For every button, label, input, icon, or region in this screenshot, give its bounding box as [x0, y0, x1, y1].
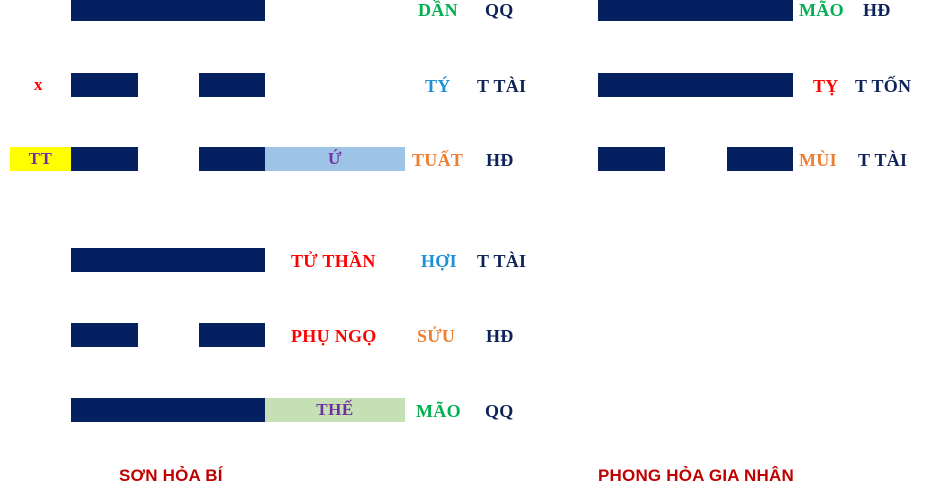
right-row-3-line-left — [598, 147, 665, 171]
left-row-2-line-right — [199, 73, 265, 97]
right-row-3-branch: MÙI — [799, 148, 837, 172]
left-row-3-relation: HĐ — [486, 148, 514, 172]
hexagram-canvas: DẦN QQ x TÝ T TÀI TT Ứ TUẤT HĐ TỬ THẦN H… — [0, 0, 928, 491]
left-row-4-relation: T TÀI — [477, 249, 526, 273]
left-row-6-relation: QQ — [485, 399, 514, 423]
left-row-3-branch: TUẤT — [412, 148, 463, 172]
left-row-2-marker: x — [34, 73, 43, 97]
right-row-3-line-right — [727, 147, 793, 171]
left-row-1-branch: DẦN — [418, 0, 458, 22]
left-row-2-branch: TÝ — [425, 74, 451, 98]
left-row-3-marker-label: TT — [10, 147, 71, 171]
left-row-6-branch: MÃO — [416, 399, 461, 423]
left-hexagram-title: SƠN HỎA BÍ — [119, 466, 223, 486]
right-row-1-line-solid — [598, 0, 793, 21]
left-row-5-line-left — [71, 323, 138, 347]
right-row-1-relation: HĐ — [863, 0, 891, 22]
left-row-5-spirit: PHỤ NGỌ — [291, 324, 377, 348]
right-row-2-relation: T TỐN — [855, 74, 911, 98]
right-hexagram-title: PHONG HỎA GIA NHÂN — [598, 466, 794, 486]
left-row-4-spirit: TỬ THẦN — [291, 249, 376, 273]
left-row-2-line-left — [71, 73, 138, 97]
left-row-5-relation: HĐ — [486, 324, 514, 348]
right-row-3-relation: T TÀI — [858, 148, 907, 172]
left-row-3-band-label: Ứ — [265, 147, 405, 171]
left-row-1-relation: QQ — [485, 0, 514, 22]
left-row-6-band-label: THẾ — [265, 398, 405, 422]
left-row-3-line-left — [71, 147, 138, 171]
left-row-6-line-solid — [71, 398, 265, 422]
left-row-5-line-right — [199, 323, 265, 347]
left-row-1-line-solid — [71, 0, 265, 21]
right-row-1-branch: MÃO — [799, 0, 844, 22]
left-row-3-line-right — [199, 147, 265, 171]
left-row-4-line-solid — [71, 248, 265, 272]
right-row-2-line-solid — [598, 73, 793, 97]
left-row-4-branch: HỢI — [421, 249, 457, 273]
right-row-2-branch: TỴ — [813, 74, 839, 98]
left-row-5-branch: SỬU — [417, 324, 455, 348]
left-row-2-relation: T TÀI — [477, 74, 526, 98]
